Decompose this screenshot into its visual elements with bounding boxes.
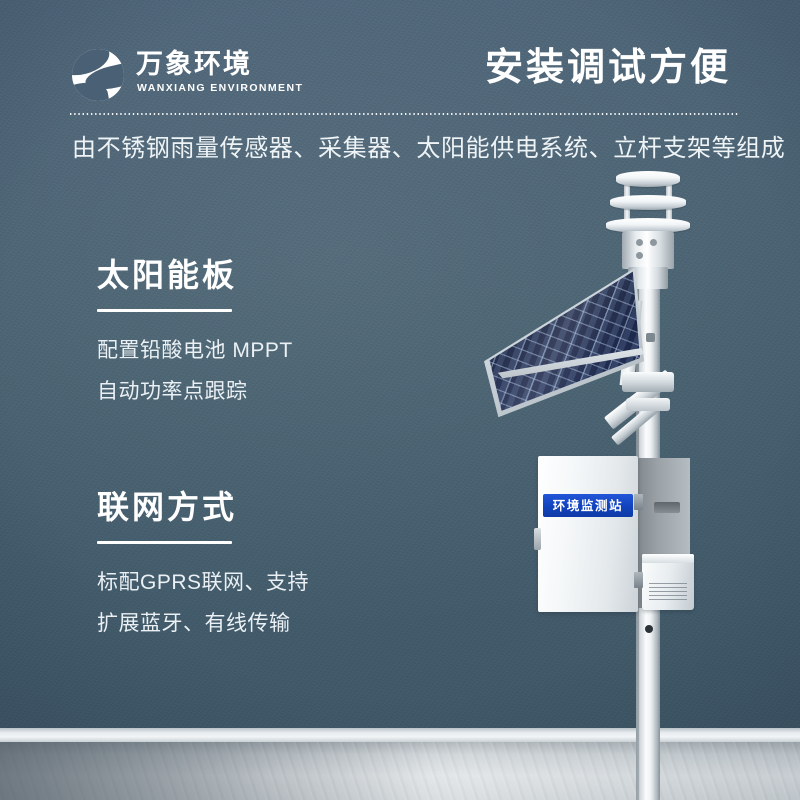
headline: 安装调试方便 bbox=[485, 46, 731, 90]
panel-glass-gloss bbox=[484, 262, 644, 422]
feature-rule-network bbox=[97, 541, 232, 544]
feature-block-solar: 太阳能板 配置铅酸电池 MPPT 自动功率点跟踪 bbox=[97, 255, 293, 412]
feature-line-solar-2: 自动功率点跟踪 bbox=[97, 371, 293, 412]
sensor-disc-middle bbox=[610, 195, 686, 210]
feature-line-solar-1: 配置铅酸电池 MPPT bbox=[97, 330, 293, 371]
baseboard-strip bbox=[0, 728, 800, 742]
cabinet-door-latch bbox=[534, 528, 541, 550]
feature-rule-solar bbox=[97, 309, 232, 312]
dotted-divider bbox=[70, 113, 738, 115]
feature-line-network-2: 扩展蓝牙、有线传输 bbox=[97, 603, 309, 644]
brand-logo: 万象环境 WANXIANG ENVIRONMENT bbox=[72, 47, 264, 105]
equipment-cabinet: 环境监测站 bbox=[538, 456, 690, 622]
bracket-pole-clamp-upper bbox=[622, 372, 674, 392]
feature-line-network-1: 标配GPRS联网、支持 bbox=[97, 562, 309, 603]
logo-emblem-icon bbox=[72, 49, 124, 101]
feature-block-network: 联网方式 标配GPRS联网、支持 扩展蓝牙、有线传输 bbox=[97, 487, 309, 644]
bracket-bolt bbox=[646, 333, 655, 342]
brand-name-en: WANXIANG ENVIRONMENT bbox=[137, 82, 303, 94]
subtitle: 由不锈钢雨量传感器、采集器、太阳能供电系统、立杆支架等组成 bbox=[72, 133, 785, 165]
floor-shadow bbox=[0, 742, 430, 800]
feature-title-network: 联网方式 bbox=[97, 487, 309, 527]
brand-name-cn: 万象环境 bbox=[136, 49, 252, 79]
bracket-pole-clamp-lower bbox=[626, 398, 670, 411]
cabinet-label-plate: 环境监测站 bbox=[543, 494, 633, 517]
cabinet-hinge bbox=[634, 572, 643, 588]
cabinet-door: 环境监测站 bbox=[538, 456, 638, 612]
pole-bolt-hole bbox=[645, 625, 653, 633]
sensor-disc-top bbox=[616, 171, 680, 187]
cabinet-sub-box bbox=[642, 554, 694, 610]
sub-box-vent-louvers bbox=[649, 580, 687, 600]
cabinet-side-vent bbox=[654, 502, 680, 513]
sub-box-top bbox=[642, 554, 694, 563]
feature-title-solar: 太阳能板 bbox=[97, 255, 293, 295]
cabinet-label-text: 环境监测站 bbox=[553, 499, 624, 513]
polycrystalline-solar-panel bbox=[484, 262, 644, 422]
cabinet-hinge bbox=[634, 494, 643, 510]
product-poster: 万象环境 WANXIANG ENVIRONMENT 安装调试方便 由不锈钢雨量传… bbox=[0, 0, 800, 800]
